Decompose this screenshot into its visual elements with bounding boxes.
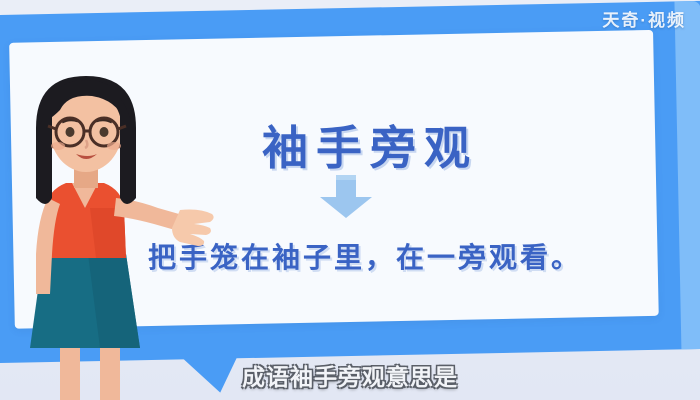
open-hand <box>172 210 214 247</box>
eye-right <box>100 127 109 137</box>
presenter-character <box>8 58 218 400</box>
eye-left <box>66 127 75 137</box>
channel-watermark: 天奇·视频 <box>602 6 686 31</box>
video-frame: 袖手旁观 把手笼在袖子里，在一旁观看。 <box>0 0 700 400</box>
blush-left <box>51 142 65 150</box>
blush-right <box>107 142 121 150</box>
board-edge-right <box>674 1 700 349</box>
video-subtitle: 成语袖手旁观意思是 <box>0 358 700 392</box>
